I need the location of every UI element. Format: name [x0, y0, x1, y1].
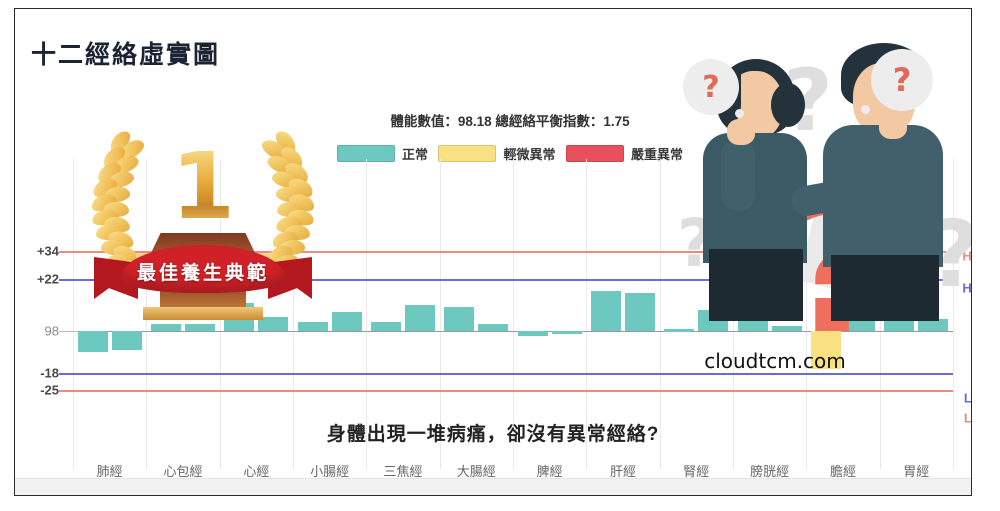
man-pants	[831, 255, 939, 321]
y-axis-tick-mark	[59, 373, 81, 375]
chart-bar[interactable]	[371, 322, 401, 331]
chart-bar[interactable]	[298, 322, 328, 331]
y-axis-tick-label: -25	[15, 383, 59, 398]
chart-card-body: 十二經絡虛實圖 體能數值：98.18 總經絡平衡指數：1.75 正常輕微異常嚴重…	[15, 9, 971, 495]
chart-bar[interactable]	[112, 331, 142, 350]
thought-bubble-dot	[735, 109, 744, 118]
y-axis-tick-mark	[59, 390, 81, 392]
woman-hair-bun	[771, 83, 805, 127]
chart-bar[interactable]	[552, 331, 582, 334]
woman-arm	[721, 139, 755, 211]
thought-bubble-question-icon: ?	[683, 59, 739, 115]
reference-line-l2	[73, 390, 953, 392]
y-axis-tick-label: -18	[15, 366, 59, 381]
man-hand	[879, 113, 907, 139]
y-axis-tick-label: +22	[15, 272, 59, 287]
chart-bar[interactable]	[591, 291, 621, 331]
screenshot-root: 十二經絡虛實圖 體能數值：98.18 總經絡平衡指數：1.75 正常輕微異常嚴重…	[0, 0, 1000, 511]
chart-bar[interactable]	[405, 305, 435, 331]
chart-card: 十二經絡虛實圖 體能數值：98.18 總經絡平衡指數：1.75 正常輕微異常嚴重…	[14, 8, 972, 496]
chart-bar[interactable]	[625, 293, 655, 331]
bottom-caption: 身體出現一堆病痛，卻沒有異常經絡?	[15, 419, 971, 446]
woman-pants	[709, 249, 803, 321]
watermark: cloudtcm.com	[704, 349, 846, 373]
thought-bubble-dot	[861, 105, 870, 114]
ribbon-label: 最佳養生典範	[94, 258, 312, 285]
best-wellness-badge: 1 最佳養生典範	[87, 127, 319, 322]
confused-people-illustration: ? ? ? ?	[665, 21, 972, 321]
chart-bar[interactable]	[332, 312, 362, 331]
chart-bar[interactable]	[78, 331, 108, 352]
woman-hand	[727, 119, 755, 145]
stats-summary: 體能數值：98.18 總經絡平衡指數：1.75	[345, 110, 675, 130]
chart-bar[interactable]	[151, 324, 181, 331]
y-axis-tick-label: 98	[15, 324, 59, 339]
y-axis-tick-label: +34	[15, 243, 59, 258]
badge-ribbon: 最佳養生典範	[94, 245, 312, 313]
reference-label-l1: L1	[964, 391, 972, 406]
thought-bubble-question-icon: ?	[871, 49, 933, 111]
y-axis-tick-mark	[59, 279, 81, 281]
y-axis-tick-mark	[59, 251, 81, 253]
chart-bar[interactable]	[478, 324, 508, 331]
man-arm	[891, 133, 927, 203]
chart-bar[interactable]	[664, 329, 694, 332]
card-footer-strip	[15, 478, 971, 495]
rank-number: 1	[171, 141, 235, 233]
chart-bar[interactable]	[185, 324, 215, 331]
chart-bar[interactable]	[518, 331, 548, 336]
chart-bar[interactable]	[444, 307, 474, 331]
page-title: 十二經絡虛實圖	[31, 35, 220, 71]
